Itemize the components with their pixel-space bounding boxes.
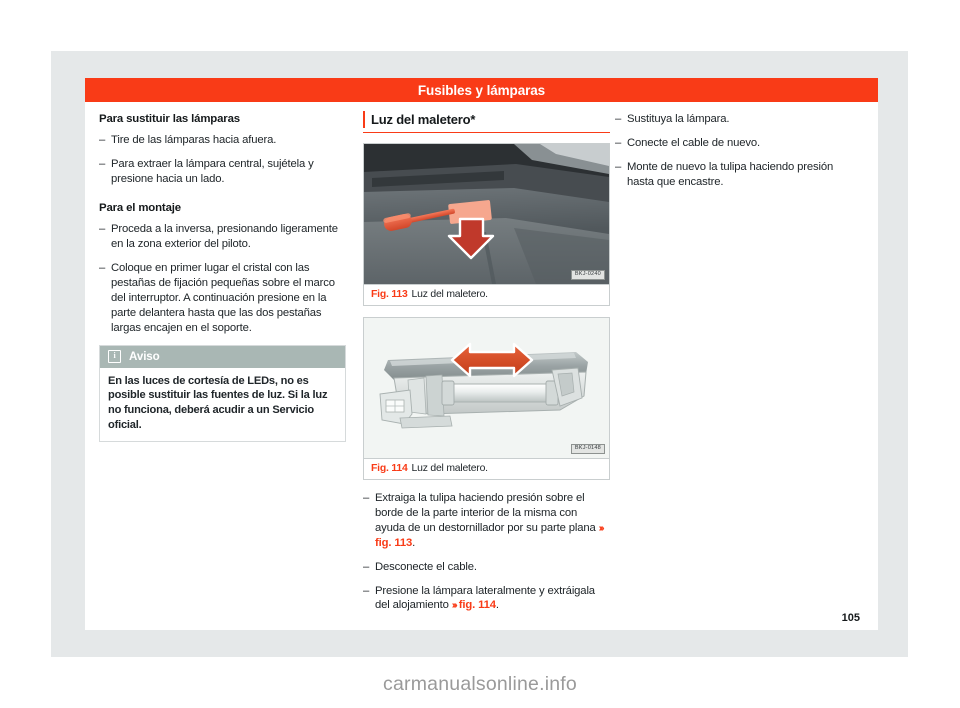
list-item-text: Proceda a la inversa, presionando ligera… xyxy=(111,223,338,250)
dash-bullet: – xyxy=(99,157,105,172)
list-item-text: Tire de las lámparas hacia afuera. xyxy=(111,134,276,146)
page-sheet: Fusibles y lámparas Para sustituir las l… xyxy=(85,78,878,630)
figure-114-caption: Fig. 114Luz del maletero. xyxy=(364,458,609,479)
trunk-light-photo-illustration xyxy=(364,144,609,284)
figure-113-number: Fig. 113 xyxy=(371,289,408,300)
dash-bullet: – xyxy=(99,261,105,276)
dash-bullet: – xyxy=(615,112,621,127)
figure-reference-113[interactable]: fig. 113 xyxy=(375,537,412,549)
list-item: – Coloque en primer lugar el cristal con… xyxy=(99,261,346,336)
list-item: – Conecte el cable de nuevo. xyxy=(615,136,862,151)
info-icon: i xyxy=(108,350,121,363)
note-title: Aviso xyxy=(129,350,160,363)
figure-113: BKJ-0240 Fig. 113Luz del maletero. xyxy=(363,143,610,306)
figure-114: BKJ-0148 Fig. 114Luz del maletero. xyxy=(363,317,610,480)
heading-para-el-montaje: Para el montaje xyxy=(99,201,346,215)
list-item-text: Coloque en primer lugar el cristal con l… xyxy=(111,262,335,334)
note-body: En las luces de cortesía de LEDs, no es … xyxy=(100,368,345,441)
list-item-text: Extraiga la tulipa haciendo presión sobr… xyxy=(375,492,599,534)
dash-bullet: – xyxy=(363,560,369,575)
figure-114-number: Fig. 114 xyxy=(371,463,408,474)
list-item-text: Para extraer la lámpara central, sujétel… xyxy=(111,158,314,185)
section-title: Luz del maletero* xyxy=(363,112,610,133)
list-item-text: Conecte el cable de nuevo. xyxy=(627,137,760,149)
dash-bullet: – xyxy=(363,491,369,506)
dash-bullet: – xyxy=(615,160,621,175)
running-header-title: Fusibles y lámparas xyxy=(418,83,545,98)
trunk-lamp-exploded-illustration xyxy=(364,318,609,458)
running-header: Fusibles y lámparas xyxy=(85,78,878,102)
list-item: –Desconecte el cable. xyxy=(363,560,610,575)
list-item-text: Desconecte el cable. xyxy=(375,561,477,573)
list-item: – Proceda a la inversa, presionando lige… xyxy=(99,222,346,252)
list-item: – Sustituya la lámpara. xyxy=(615,112,862,127)
list-item-text-tail: . xyxy=(496,599,499,611)
section-title-wrap: Luz del maletero* xyxy=(363,112,610,133)
list-item-text: Monte de nuevo la tulipa haciendo presió… xyxy=(627,161,833,188)
figure-reference-114[interactable]: fig. 114 xyxy=(459,599,496,611)
list-item: – Para extraer la lámpara central, sujét… xyxy=(99,157,346,187)
page-number: 105 xyxy=(842,612,860,624)
page-columns: Para sustituir las lámparas – Tire de la… xyxy=(85,112,878,630)
figure-113-caption: Fig. 113Luz del maletero. xyxy=(364,284,609,305)
heading-para-sustituir: Para sustituir las lámparas xyxy=(99,112,346,126)
chevron-icon: ››› xyxy=(452,600,456,611)
watermark: carmanualsonline.info xyxy=(0,673,960,696)
note-box-aviso: i Aviso En las luces de cortesía de LEDs… xyxy=(99,345,346,442)
list-item: –Presione la lámpara lateralmente y extr… xyxy=(363,584,610,614)
left-column: Para sustituir las lámparas – Tire de la… xyxy=(99,112,346,442)
dash-bullet: – xyxy=(363,584,369,599)
figure-114-image: BKJ-0148 xyxy=(364,318,609,458)
note-header: i Aviso xyxy=(100,346,345,368)
list-item: –Extraiga la tulipa haciendo presión sob… xyxy=(363,491,610,551)
figure-114-code: BKJ-0148 xyxy=(571,444,605,454)
list-item-text-tail: . xyxy=(412,537,415,549)
list-item-text: Sustituya la lámpara. xyxy=(627,113,729,125)
middle-column: Luz del maletero* xyxy=(363,112,610,622)
chevron-icon: ››› xyxy=(599,523,603,534)
dash-bullet: – xyxy=(99,133,105,148)
dash-bullet: – xyxy=(615,136,621,151)
dash-bullet: – xyxy=(99,222,105,237)
figure-113-image: BKJ-0240 xyxy=(364,144,609,284)
list-item: – Monte de nuevo la tulipa haciendo pres… xyxy=(615,160,862,190)
figure-114-caption-text: Luz del maletero. xyxy=(412,463,488,474)
right-column: – Sustituya la lámpara. – Conecte el cab… xyxy=(615,112,862,199)
list-item: – Tire de las lámparas hacia afuera. xyxy=(99,133,346,148)
figure-113-caption-text: Luz del maletero. xyxy=(412,289,488,300)
figure-113-code: BKJ-0240 xyxy=(571,270,605,280)
